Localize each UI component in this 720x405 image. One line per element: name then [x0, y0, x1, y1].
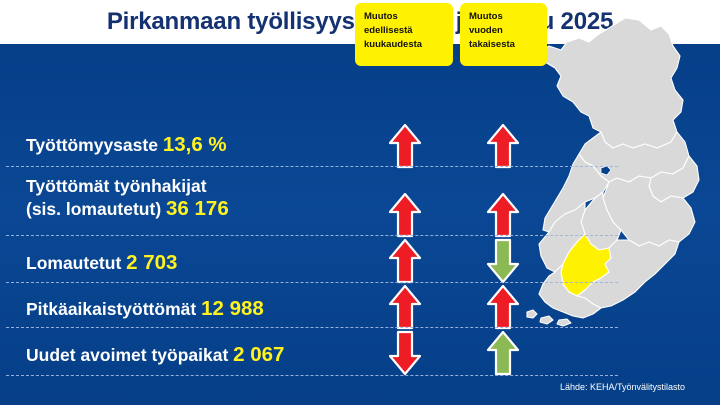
row-separator [6, 235, 618, 236]
arrow-down-red [388, 330, 422, 376]
arrow-up-red [388, 238, 422, 284]
column-header-month-change: Muutos edellisestä kuukaudesta [355, 3, 453, 66]
stat-label-text: Työttömät työnhakijat [26, 176, 207, 196]
row-separator [6, 166, 618, 167]
stat-label-text: Lomautetut [26, 253, 121, 273]
stat-label: Työttömyysaste 13,6 % [26, 133, 227, 157]
arrow-up-red [388, 284, 422, 330]
stat-label-text: Työttömyysaste [26, 135, 158, 155]
arrow-up-green [486, 330, 520, 376]
stat-label-text-2: (sis. lomautetut) [26, 199, 161, 219]
arrow-up-red [486, 192, 520, 238]
stat-label: Pitkäaikaistyöttömät 12 988 [26, 297, 264, 321]
arrow-up-red [388, 123, 422, 169]
arrow-down-green [486, 238, 520, 284]
row-separator [6, 282, 618, 283]
stat-value: 36 176 [166, 197, 229, 220]
map-island [527, 310, 537, 318]
arrow-up-red [486, 284, 520, 330]
source-note: Lähde: KEHA/Työnvälitystilasto [560, 382, 685, 392]
map-region-lappi [539, 18, 683, 148]
stat-value: 2 067 [233, 343, 284, 366]
map-island [540, 316, 553, 324]
stat-label: Lomautetut 2 703 [26, 251, 177, 275]
stat-value: 13,6 % [163, 133, 227, 156]
row-separator [6, 375, 618, 376]
infographic-root: Pirkanmaan työllisyyskatsaus, joulukuu 2… [0, 0, 720, 405]
stat-value: 12 988 [201, 297, 264, 320]
stat-label-text: Pitkäaikaistyöttömät [26, 299, 196, 319]
arrow-up-red [486, 123, 520, 169]
stat-value: 2 703 [126, 251, 177, 274]
column-header-year-change: Muutos vuoden takaisesta [460, 3, 547, 66]
row-separator [6, 327, 618, 328]
stat-label: Uudet avoimet työpaikat 2 067 [26, 343, 284, 367]
arrow-up-red [388, 192, 422, 238]
stat-label-text: Uudet avoimet työpaikat [26, 345, 228, 365]
map-island [557, 319, 571, 326]
stat-label: Työttömät työnhakijat (sis. lomautetut) … [26, 176, 229, 221]
